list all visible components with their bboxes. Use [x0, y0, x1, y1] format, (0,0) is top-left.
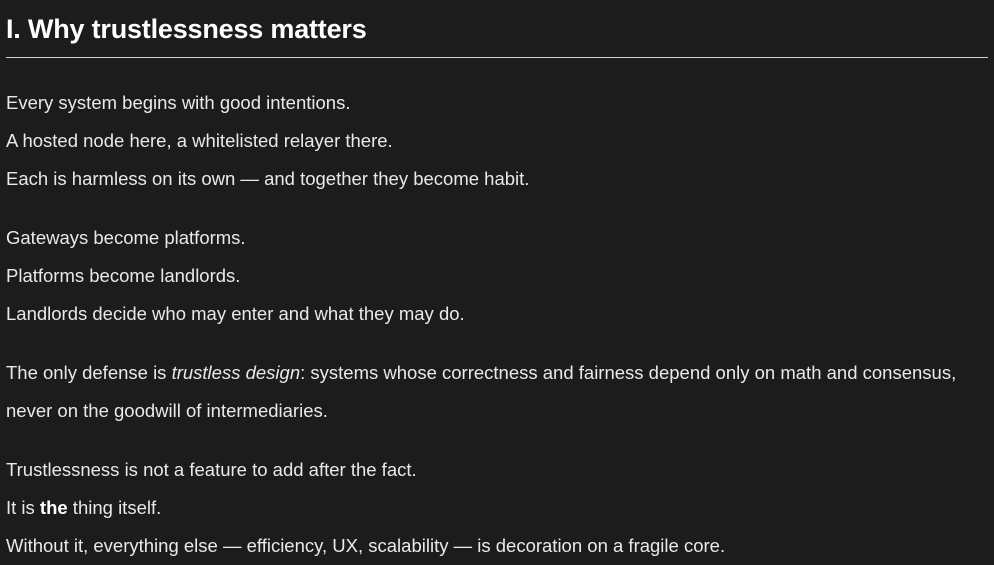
- paragraph-trustless-design: The only defense is trustless design: sy…: [6, 354, 988, 430]
- paragraph-line: Each is harmless on its own — and togeth…: [6, 160, 988, 198]
- paragraph-line: It is the thing itself.: [6, 489, 988, 527]
- emphasized-term: trustless design: [172, 362, 301, 383]
- page-title: I. Why trustlessness matters: [6, 0, 988, 46]
- document-page: I. Why trustlessness matters Every syste…: [0, 0, 994, 565]
- paragraph-line: Gateways become platforms.: [6, 219, 988, 257]
- paragraph-thing-itself: Trustlessness is not a feature to add af…: [6, 451, 988, 565]
- paragraph-line: Every system begins with good intentions…: [6, 84, 988, 122]
- paragraph-line: The only defense is trustless design: sy…: [6, 354, 988, 430]
- paragraph-gateways: Gateways become platforms. Platforms bec…: [6, 219, 988, 333]
- text-prefix: The only defense is: [6, 362, 172, 383]
- paragraph-line: Platforms become landlords.: [6, 257, 988, 295]
- paragraph-line: Trustlessness is not a feature to add af…: [6, 451, 988, 489]
- paragraph-line: Landlords decide who may enter and what …: [6, 295, 988, 333]
- document-body: Every system begins with good intentions…: [6, 84, 988, 565]
- paragraph-line: A hosted node here, a whitelisted relaye…: [6, 122, 988, 160]
- paragraph-intentions: Every system begins with good intentions…: [6, 84, 988, 198]
- strong-term: the: [40, 497, 68, 518]
- paragraph-line: Without it, everything else — efficiency…: [6, 527, 988, 565]
- title-divider: [6, 57, 988, 58]
- text-suffix: thing itself.: [68, 497, 162, 518]
- text-prefix: It is: [6, 497, 40, 518]
